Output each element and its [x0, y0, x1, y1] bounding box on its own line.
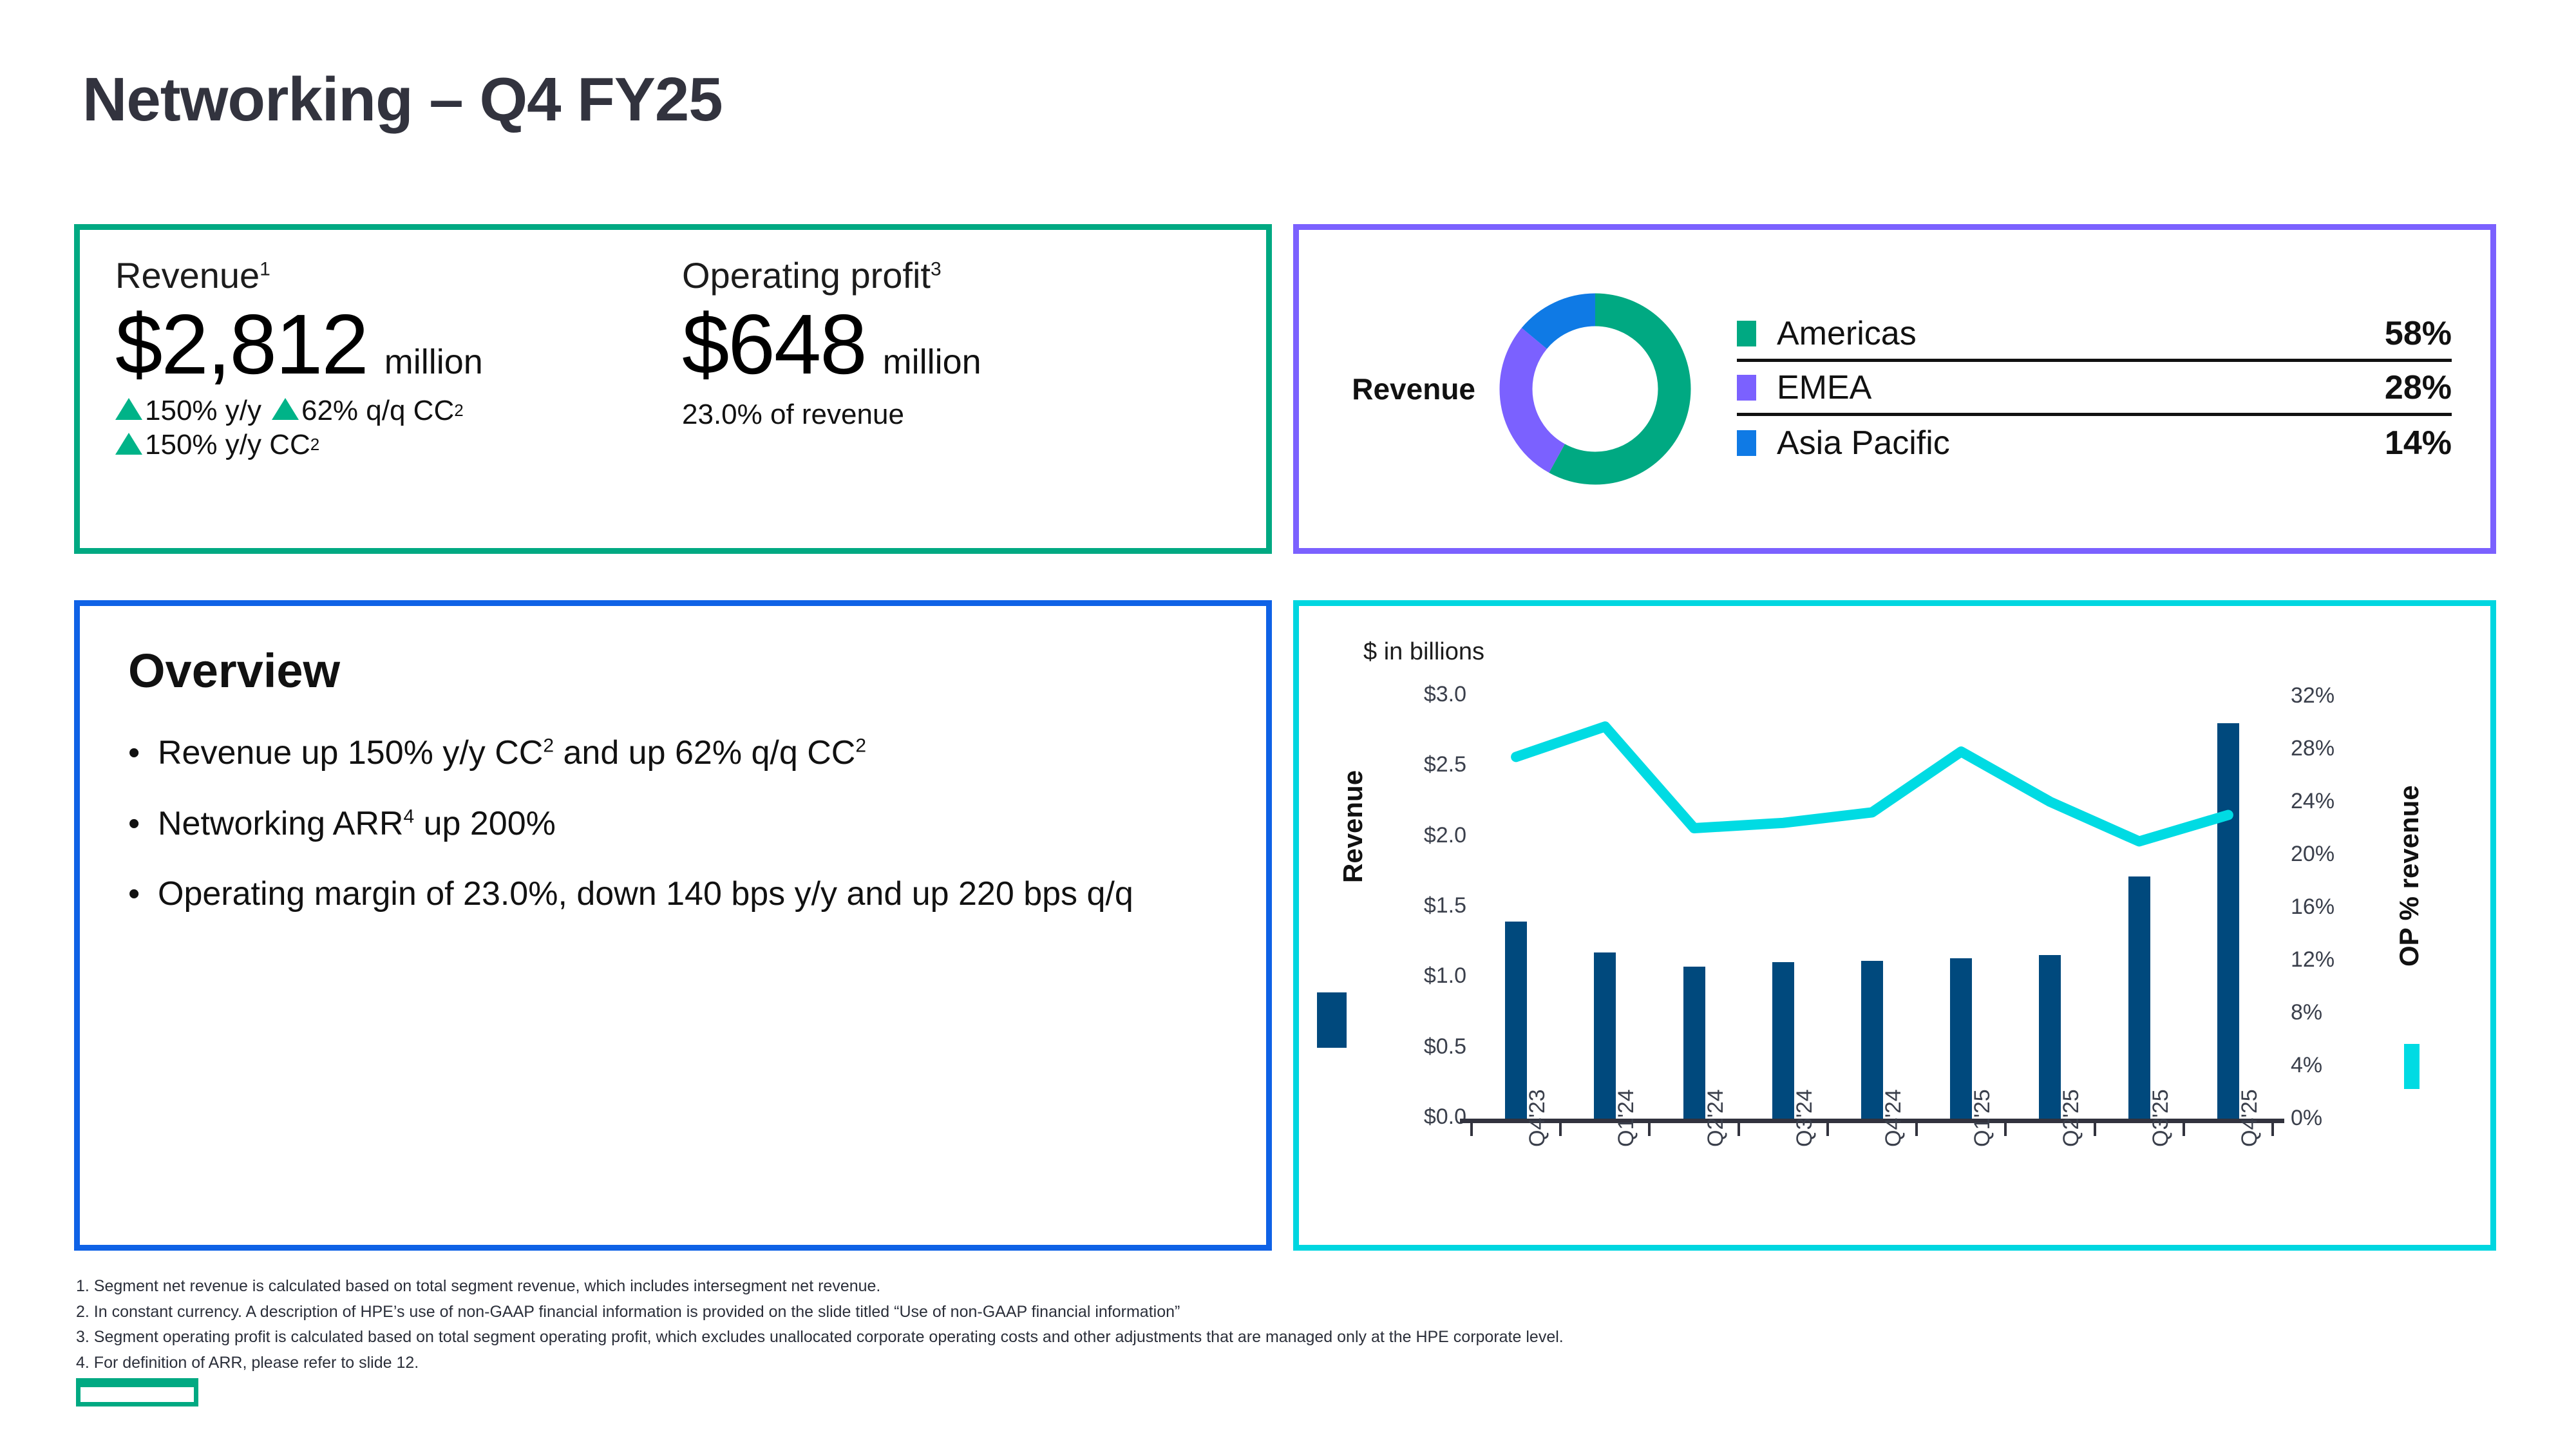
kpi-revenue-label-text: Revenue: [115, 255, 260, 296]
y2-axis-tick-label: 24%: [2291, 789, 2368, 814]
y2-axis-tick-label: 8%: [2291, 1000, 2368, 1025]
x-axis-tickmark: [1470, 1123, 1473, 1136]
revenue-bar: [1861, 961, 1883, 1119]
kpi-operating-profit-block: Operating profit3 $648 million 23.0% of …: [682, 254, 981, 548]
bullet-icon: •: [128, 873, 158, 916]
donut-chart: [1492, 292, 1698, 486]
x-axis-tick-label: Q1'25: [1970, 1089, 1995, 1147]
brand-corner-mark: [76, 1378, 198, 1406]
kpi-revenue-footnote-ref: 1: [260, 258, 270, 279]
revenue-bar: [1683, 967, 1705, 1119]
bullet-icon: •: [128, 802, 158, 846]
legend-row: EMEA28%: [1737, 362, 2452, 416]
kpi-op-margin-note: 23.0% of revenue: [682, 399, 981, 431]
donut-svg: [1499, 292, 1692, 486]
kpi-revenue-value: $2,812: [115, 300, 368, 390]
x-axis-tick-label: Q1'24: [1614, 1089, 1639, 1147]
chart-plot-area: $0.0$0.5$1.0$1.5$2.0$2.5$3.00%4%8%12%16%…: [1299, 606, 2490, 1245]
bullet-icon: •: [128, 732, 158, 775]
overview-bullet-text: Networking ARR4 up 200%: [158, 802, 556, 846]
x-axis-tick-label: Q4'25: [2237, 1089, 2262, 1147]
footnote-ref: 2: [855, 735, 866, 757]
kpi-delta-yoy: 150% y/y: [115, 393, 261, 428]
x-axis-tickmark: [1915, 1123, 1918, 1136]
legend-swatch-icon: [1737, 375, 1756, 401]
overview-title: Overview: [128, 643, 1227, 698]
x-axis-tickmark: [1826, 1123, 1829, 1136]
kpi-revenue-unit: million: [384, 342, 483, 382]
kpi-revenue-delta-line-2: 150% y/y CC2: [115, 428, 682, 462]
x-axis-tickmark: [1738, 1123, 1740, 1136]
revenue-bar: [1505, 922, 1527, 1119]
legend-region-percent: 58%: [2385, 314, 2452, 353]
footnotes: 1. Segment net revenue is calculated bas…: [76, 1274, 2266, 1376]
kpi-delta-yoy-cc-text: 150% y/y CC: [145, 428, 310, 462]
y-axis-tick-label: $0.5: [1376, 1034, 1466, 1059]
x-axis-tickmark: [1559, 1123, 1562, 1136]
overview-bullet-item: •Operating margin of 23.0%, down 140 bps…: [128, 873, 1227, 916]
footnote-ref: 4: [403, 806, 414, 827]
x-axis-tickmark: [1648, 1123, 1651, 1136]
donut-chart-title: Revenue: [1299, 372, 1492, 406]
kpi-card: Revenue1 $2,812 million 150% y/y 62% q/q…: [74, 224, 1272, 554]
y2-axis-tick-label: 32%: [2291, 683, 2368, 708]
overview-bullet-list: •Revenue up 150% y/y CC2 and up 62% q/q …: [128, 732, 1227, 916]
x-axis-tick-label: Q4'24: [1881, 1089, 1906, 1147]
legend-row: Asia Pacific14%: [1737, 416, 2452, 470]
revenue-bar: [1772, 962, 1794, 1119]
y-axis-tick-label: $1.5: [1376, 893, 1466, 918]
donut-legend: Americas58%EMEA28%Asia Pacific14%: [1698, 308, 2490, 470]
kpi-revenue-deltas: 150% y/y 62% q/q CC2 150% y/y CC2: [115, 393, 682, 462]
y2-axis-tick-label: 20%: [2291, 842, 2368, 867]
y-axis-tick-label: $3.0: [1376, 682, 1466, 707]
revenue-bar: [2128, 876, 2150, 1119]
page-title: Networking – Q4 FY25: [82, 64, 723, 135]
op-margin-line: [1516, 726, 2228, 841]
kpi-delta-qoq-footnote-ref: 2: [454, 401, 463, 421]
kpi-op-label: Operating profit3: [682, 254, 981, 296]
triangle-up-icon: [272, 398, 299, 420]
revenue-bar: [1594, 952, 1616, 1119]
x-axis-tick-label: Q3'25: [2148, 1089, 2173, 1147]
legend-region-percent: 14%: [2385, 424, 2452, 462]
y2-axis-tick-label: 12%: [2291, 947, 2368, 972]
footnote-ref: 2: [543, 735, 554, 757]
footnote-line: 2. In constant currency. A description o…: [76, 1300, 2266, 1325]
x-axis-tick-label: Q2'25: [2059, 1089, 2084, 1147]
triangle-up-icon: [115, 398, 142, 420]
x-axis-tickmark: [2004, 1123, 2007, 1136]
x-axis-tickmark: [2094, 1123, 2096, 1136]
kpi-revenue-label: Revenue1: [115, 254, 682, 296]
kpi-delta-qoq-cc: 62% q/q CC2: [272, 393, 464, 428]
x-axis-tick-label: Q4'23: [1525, 1089, 1550, 1147]
overview-bullet-text: Revenue up 150% y/y CC2 and up 62% q/q C…: [158, 732, 866, 775]
x-axis-tickmark: [2271, 1123, 2274, 1136]
y2-axis-tick-label: 0%: [2291, 1106, 2368, 1131]
kpi-op-label-text: Operating profit: [682, 255, 931, 296]
kpi-op-value: $648: [682, 300, 866, 390]
legend-swatch-icon: [1737, 430, 1756, 456]
x-axis-tick-label: Q2'24: [1703, 1089, 1728, 1147]
kpi-revenue-block: Revenue1 $2,812 million 150% y/y 62% q/q…: [115, 254, 682, 548]
revenue-bar: [2039, 955, 2061, 1119]
legend-region-percent: 28%: [2385, 368, 2452, 407]
kpi-revenue-delta-line-1: 150% y/y 62% q/q CC2: [115, 393, 682, 428]
legend-swatch-icon: [1737, 321, 1756, 346]
footnote-line: 4. For definition of ARR, please refer t…: [76, 1350, 2266, 1376]
revenue-bar: [1950, 958, 1972, 1119]
overview-bullet-item: •Revenue up 150% y/y CC2 and up 62% q/q …: [128, 732, 1227, 775]
y2-axis-tick-label: 16%: [2291, 895, 2368, 920]
y-axis-tick-label: $2.0: [1376, 823, 1466, 848]
kpi-op-unit: million: [883, 342, 981, 382]
y-axis-tick-label: $1.0: [1376, 963, 1466, 989]
footnote-line: 3. Segment operating profit is calculate…: [76, 1325, 2266, 1350]
revenue-and-op-margin-chart-card: $ in billions Revenue OP % revenue $0.0$…: [1293, 600, 2496, 1251]
legend-region-name: Asia Pacific: [1777, 424, 2385, 462]
overview-bullet-item: •Networking ARR4 up 200%: [128, 802, 1227, 846]
footnote-line: 1. Segment net revenue is calculated bas…: [76, 1274, 2266, 1300]
overview-bullet-text: Operating margin of 23.0%, down 140 bps …: [158, 873, 1133, 916]
legend-region-name: EMEA: [1777, 368, 2385, 407]
kpi-delta-qoq-cc-text: 62% q/q CC: [301, 393, 454, 428]
y2-axis-tick-label: 28%: [2291, 736, 2368, 761]
kpi-op-footnote-ref: 3: [931, 258, 942, 279]
triangle-up-icon: [115, 433, 142, 455]
kpi-delta-yoy-cc-footnote-ref: 2: [310, 435, 319, 455]
legend-row: Americas58%: [1737, 308, 2452, 362]
legend-region-name: Americas: [1777, 314, 2385, 353]
revenue-bar: [2217, 723, 2239, 1119]
kpi-delta-yoy-text: 150% y/y: [145, 393, 261, 428]
overview-card: Overview •Revenue up 150% y/y CC2 and up…: [74, 600, 1272, 1251]
kpi-delta-yoy-cc: 150% y/y CC2: [115, 428, 319, 462]
y2-axis-tick-label: 4%: [2291, 1053, 2368, 1078]
x-axis-tick-label: Q3'24: [1792, 1089, 1817, 1147]
y-axis-tick-label: $0.0: [1376, 1104, 1466, 1130]
revenue-by-region-card: Revenue Americas58%EMEA28%Asia Pacific14…: [1293, 224, 2496, 554]
y-axis-tick-label: $2.5: [1376, 752, 1466, 777]
x-axis-tickmark: [2183, 1123, 2185, 1136]
